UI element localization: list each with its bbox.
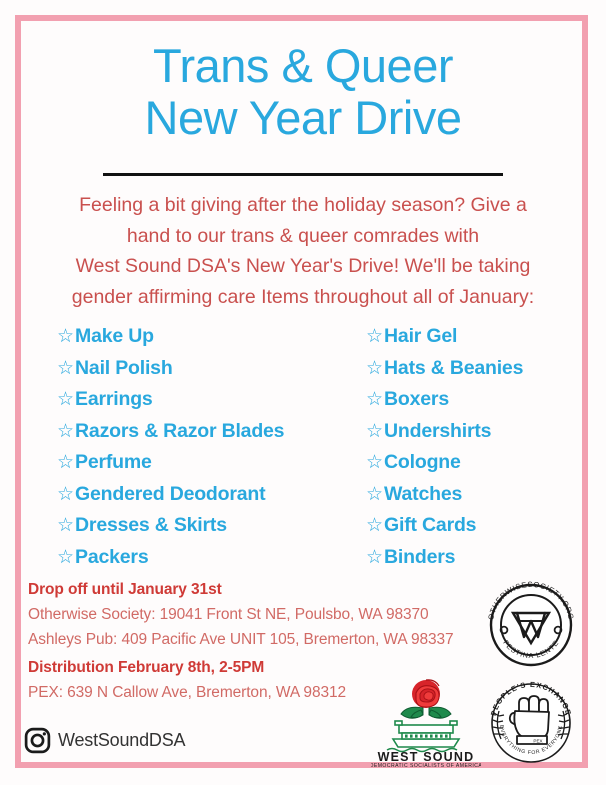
list-item-label: Gift Cards — [384, 516, 476, 536]
list-item: ☆ Make Up — [57, 327, 284, 359]
intro-paragraph: Feeling a bit giving after the holiday s… — [22, 190, 584, 312]
title-line-1: Trans & Queer — [30, 40, 576, 92]
list-item: ☆ Undershirts — [366, 422, 523, 454]
list-item-label: Dresses & Skirts — [75, 516, 227, 536]
intro-line-4: gender affirming care Items throughout a… — [22, 282, 584, 313]
list-item: ☆ Hats & Beanies — [366, 359, 523, 391]
list-item-label: Boxers — [384, 390, 449, 410]
flyer-page: Trans & Queer New Year Drive Feeling a b… — [0, 0, 606, 785]
flyer-title: Trans & Queer New Year Drive — [30, 40, 576, 144]
dsa-name-line-2: DEMOCRATIC SOCIALISTS OF AMERICA — [371, 763, 481, 767]
west-sound-dsa-logo: WEST SOUND DEMOCRATIC SOCIALISTS OF AMER… — [371, 677, 481, 767]
list-item-label: Cologne — [384, 453, 461, 473]
list-item: ☆ Hair Gel — [366, 327, 523, 359]
dsa-name-line-1: WEST SOUND — [378, 750, 475, 764]
items-column-left: ☆ Make Up ☆ Nail Polish ☆ Earrings ☆ Raz… — [57, 327, 284, 579]
accepted-items-lists: ☆ Make Up ☆ Nail Polish ☆ Earrings ☆ Raz… — [0, 327, 606, 577]
star-icon: ☆ — [57, 327, 74, 346]
list-item-label: Make Up — [75, 327, 154, 347]
list-item: ☆ Boxers — [366, 390, 523, 422]
list-item: ☆ Watches — [366, 485, 523, 517]
star-icon: ☆ — [57, 453, 74, 472]
dropoff-location-2: Ashleys Pub: 409 Pacific Ave UNIT 105, B… — [28, 627, 478, 652]
star-icon: ☆ — [57, 390, 74, 409]
star-icon: ☆ — [57, 359, 74, 378]
instagram-handle-row[interactable]: WestSoundDSA — [24, 727, 185, 754]
list-item: ☆ Packers — [57, 548, 284, 580]
list-item: ☆ Nail Polish — [57, 359, 284, 391]
star-icon: ☆ — [366, 548, 383, 567]
intro-line-3: West Sound DSA's New Year's Drive! We'll… — [22, 251, 584, 282]
star-icon: ☆ — [366, 516, 383, 535]
list-item-label: Razors & Razor Blades — [75, 422, 284, 442]
dropoff-heading: Drop off until January 31st — [28, 578, 478, 602]
star-icon: ☆ — [366, 390, 383, 409]
star-icon: ☆ — [366, 327, 383, 346]
list-item-label: Binders — [384, 548, 455, 568]
list-item: ☆ Dresses & Skirts — [57, 516, 284, 548]
list-item-label: Perfume — [75, 453, 152, 473]
instagram-icon[interactable] — [24, 727, 51, 754]
intro-line-1: Feeling a bit giving after the holiday s… — [22, 190, 584, 221]
intro-line-2: hand to our trans & queer comrades with — [22, 221, 584, 252]
title-line-2: New Year Drive — [30, 92, 576, 144]
list-item-label: Undershirts — [384, 422, 491, 442]
star-icon: ☆ — [57, 516, 74, 535]
items-column-right: ☆ Hair Gel ☆ Hats & Beanies ☆ Boxers ☆ U… — [366, 327, 523, 579]
list-item-label: Hats & Beanies — [384, 359, 523, 379]
list-item-label: Hair Gel — [384, 327, 457, 347]
list-item-label: Packers — [75, 548, 148, 568]
title-divider-rule — [103, 173, 503, 176]
list-item-label: Earrings — [75, 390, 153, 410]
peoples-exchange-cuff-text: PEX — [533, 739, 542, 744]
list-item: ☆ Gift Cards — [366, 516, 523, 548]
star-icon: ☆ — [366, 359, 383, 378]
star-icon: ☆ — [366, 485, 383, 504]
star-icon: ☆ — [57, 548, 74, 567]
otherwise-society-logo: OTHERWISESOCIETY.ORG FESTINA LENTE — [481, 575, 581, 675]
list-item-label: Gendered Deodorant — [75, 485, 265, 505]
dropoff-location-1: Otherwise Society: 19041 Front St NE, Po… — [28, 602, 478, 627]
list-item: ☆ Cologne — [366, 453, 523, 485]
list-item-label: Watches — [384, 485, 462, 505]
peoples-exchange-logo: PEX PEOPLE'S EXCHANGE EVERYTHING FOR EVE… — [481, 673, 581, 773]
star-icon: ☆ — [366, 453, 383, 472]
list-item-label: Nail Polish — [75, 359, 173, 379]
star-icon: ☆ — [57, 422, 74, 441]
star-icon: ☆ — [57, 485, 74, 504]
list-item: ☆ Perfume — [57, 453, 284, 485]
list-item: ☆ Razors & Razor Blades — [57, 422, 284, 454]
list-item: ☆ Earrings — [57, 390, 284, 422]
list-item: ☆ Gendered Deodorant — [57, 485, 284, 517]
instagram-handle-text: WestSoundDSA — [58, 730, 185, 751]
star-icon: ☆ — [366, 422, 383, 441]
